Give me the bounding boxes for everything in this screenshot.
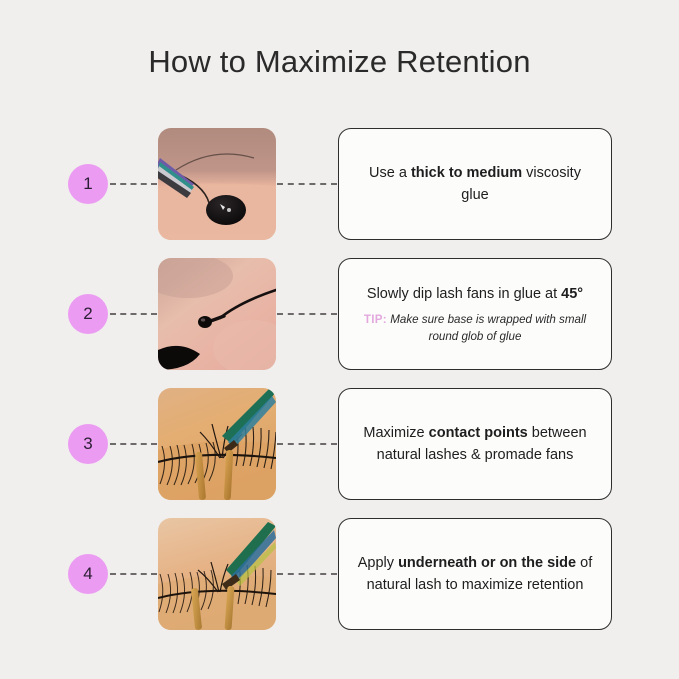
step-row: 1 xyxy=(0,128,679,240)
text-segment: Maximize xyxy=(363,425,428,441)
step-photo-3 xyxy=(158,388,276,500)
step-card-text: Apply underneath or on the side of natur… xyxy=(355,552,595,596)
step-photo-4 xyxy=(158,518,276,630)
connector-line-right xyxy=(277,313,337,315)
step-card-text: Maximize contact points between natural … xyxy=(355,422,595,466)
step-number-badge: 2 xyxy=(68,294,108,334)
step-photo-1 xyxy=(158,128,276,240)
step-card-4: Apply underneath or on the side of natur… xyxy=(338,518,612,630)
lash-fan-dipped-photo-icon xyxy=(158,258,276,370)
connector-line-left xyxy=(110,443,157,445)
steps-list: 1 xyxy=(0,128,679,648)
connector-line-right xyxy=(277,573,337,575)
tip-text: Make sure base is wrapped with small rou… xyxy=(390,313,586,342)
step-photo-2 xyxy=(158,258,276,370)
step-number-badge: 3 xyxy=(68,424,108,464)
step-number-badge: 1 xyxy=(68,164,108,204)
infographic-root: How to Maximize Retention 1 xyxy=(0,0,679,679)
step-card-2: Slowly dip lash fans in glue at 45° TIP:… xyxy=(338,258,612,370)
connector-line-left xyxy=(110,313,157,315)
connector-line-right xyxy=(277,183,337,185)
connector-line-left xyxy=(110,573,157,575)
connector-line-left xyxy=(110,183,157,185)
step-row: 3 xyxy=(0,388,679,500)
text-segment-bold: thick to medium xyxy=(411,165,522,181)
contact-points-photo-icon xyxy=(158,388,276,500)
step-tip: TIP: Make sure base is wrapped with smal… xyxy=(355,312,595,345)
page-title: How to Maximize Retention xyxy=(0,44,679,80)
text-segment-bold: contact points xyxy=(429,425,528,441)
text-segment: Apply xyxy=(358,555,398,571)
step-row: 4 xyxy=(0,518,679,630)
text-segment-bold: underneath or on the side xyxy=(398,555,576,571)
step-card-1: Use a thick to medium viscosity glue xyxy=(338,128,612,240)
step-row: 2 xyxy=(0,258,679,370)
connector-line-right xyxy=(277,443,337,445)
glue-drop-photo-icon xyxy=(158,128,276,240)
step-card-text: Slowly dip lash fans in glue at 45° xyxy=(367,283,583,305)
text-segment: Use a xyxy=(369,165,411,181)
step-card-3: Maximize contact points between natural … xyxy=(338,388,612,500)
tip-label: TIP: xyxy=(364,313,387,326)
step-card-text: Use a thick to medium viscosity glue xyxy=(355,162,595,206)
text-segment-bold: 45° xyxy=(561,286,583,302)
step-number-badge: 4 xyxy=(68,554,108,594)
text-segment: Slowly dip lash fans in glue at xyxy=(367,286,561,302)
underneath-application-photo-icon xyxy=(158,518,276,630)
